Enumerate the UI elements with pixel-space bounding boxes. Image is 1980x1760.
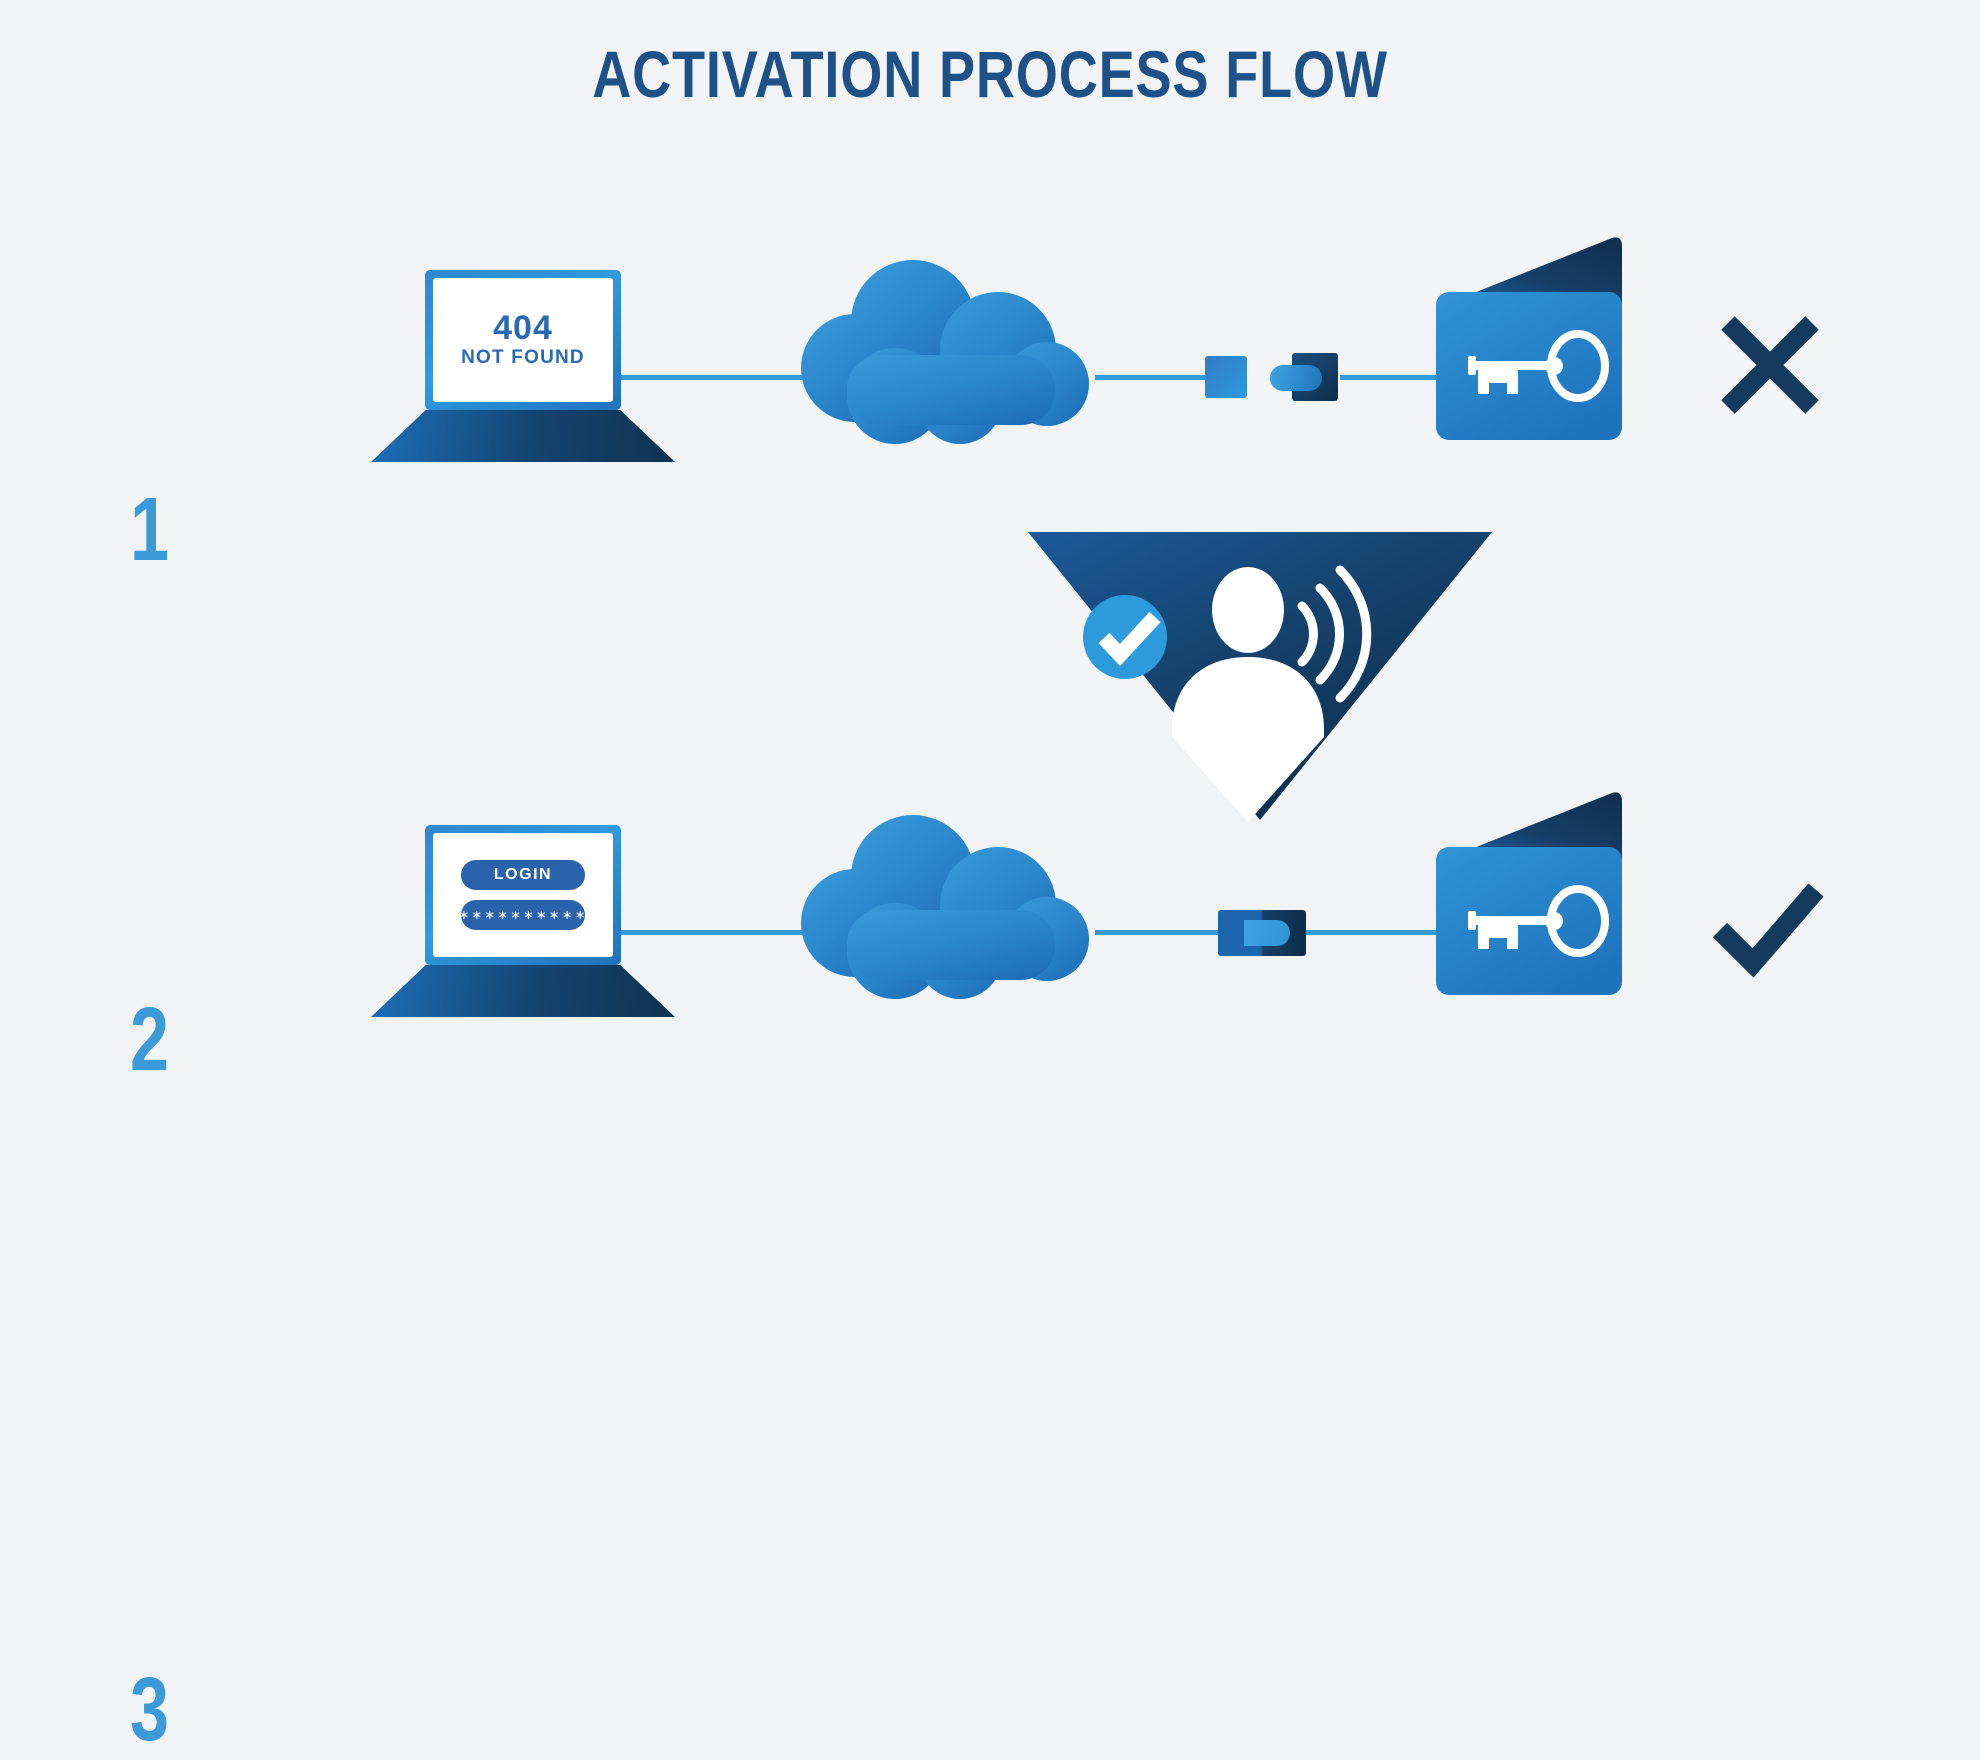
- laptop-foot: [368, 1015, 678, 1031]
- laptop-base: [371, 410, 675, 462]
- process-step-row-2: 2: [0, 490, 1980, 820]
- cloud-icon-3: [785, 815, 1095, 1005]
- wire-laptop-to-cloud-3: [610, 930, 810, 935]
- error-message-text: NOT FOUND: [461, 347, 585, 369]
- wire-cloud-to-plug-1: [1095, 375, 1205, 380]
- status-check-mark-3: [1708, 868, 1828, 983]
- laptop-foot: [368, 460, 678, 476]
- socket-port-1[interactable]: [1292, 353, 1338, 401]
- error-code-text: 404: [493, 311, 553, 347]
- laptop-screen-404: 404 NOT FOUND: [433, 278, 613, 402]
- wire-cloud-to-plug-3: [1095, 930, 1220, 935]
- page-title: ACTIVATION PROCESS FLOW: [178, 36, 1802, 112]
- process-step-row-3: 3 LOGIN ∗∗∗∗∗∗∗∗∗∗: [0, 790, 1980, 1090]
- login-button[interactable]: LOGIN: [461, 860, 585, 890]
- wallet-with-key-1[interactable]: [1430, 230, 1640, 450]
- login-button-label: LOGIN: [494, 866, 552, 884]
- cloud-icon-1: [785, 260, 1095, 450]
- verified-user-badge[interactable]: [1020, 520, 1500, 835]
- wire-plug-to-wallet-3: [1305, 930, 1450, 935]
- wallet-with-key-3[interactable]: [1430, 785, 1640, 1005]
- laptop-lid: 404 NOT FOUND: [425, 270, 621, 410]
- laptop-screen-login: LOGIN ∗∗∗∗∗∗∗∗∗∗: [433, 833, 613, 957]
- process-step-row-1: 1 404 NOT FOUND: [0, 210, 1980, 510]
- laptop-lid: LOGIN ∗∗∗∗∗∗∗∗∗∗: [425, 825, 621, 965]
- check-circle-icon: [1083, 595, 1167, 679]
- password-field[interactable]: ∗∗∗∗∗∗∗∗∗∗: [461, 900, 585, 930]
- connected-plug-3[interactable]: [1218, 910, 1306, 956]
- password-field-value: ∗∗∗∗∗∗∗∗∗∗: [459, 908, 588, 923]
- socket-pin: [1270, 365, 1322, 391]
- cable-plug-end-1[interactable]: [1205, 356, 1247, 398]
- wire-laptop-to-cloud-1: [610, 375, 810, 380]
- status-x-mark-1: [1715, 310, 1825, 425]
- laptop-base: [371, 965, 675, 1017]
- step-number-3: 3: [130, 1665, 200, 1755]
- activation-process-flow-diagram: ACTIVATION PROCESS FLOW 1 404 NOT FOUND: [0, 0, 1980, 1078]
- plug-pin: [1244, 920, 1290, 946]
